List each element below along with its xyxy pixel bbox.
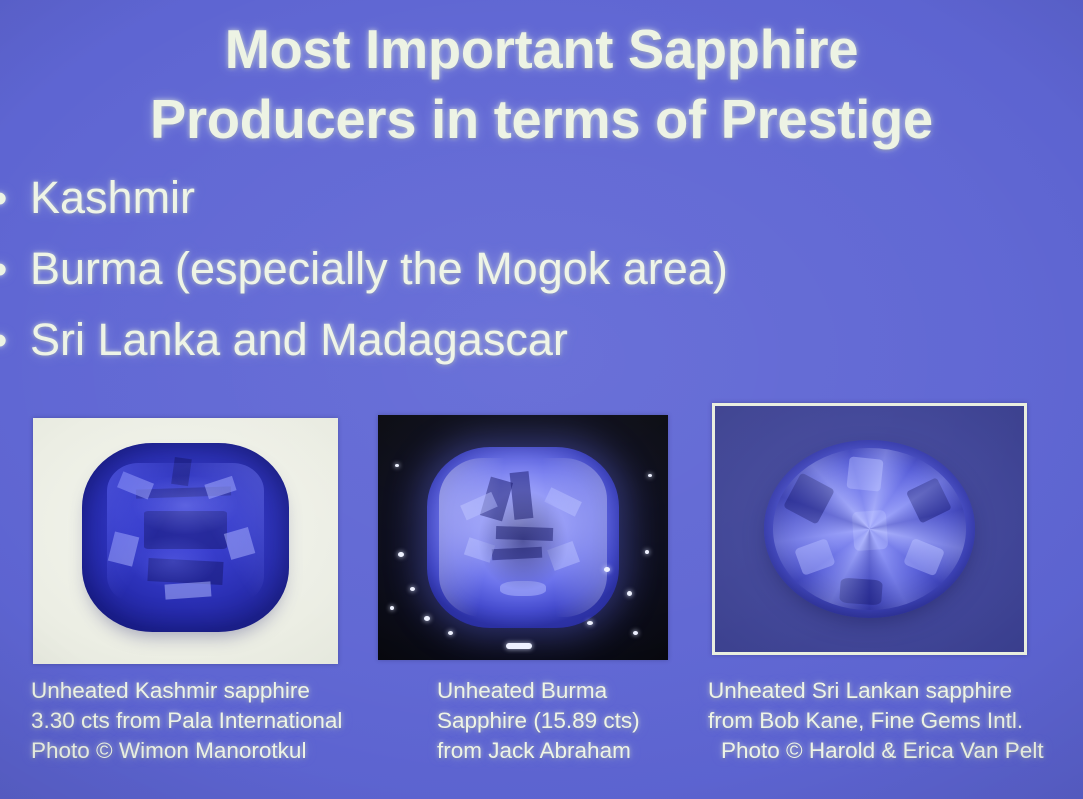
bullet-item-kashmir: • Kashmir xyxy=(0,172,1040,243)
slide-title: Most Important Sapphire Producers in ter… xyxy=(0,14,1083,154)
caption-line: Unheated Burma xyxy=(437,676,640,706)
bullet-item-burma: • Burma (especially the Mogok area) xyxy=(0,243,1040,314)
bullet-point-icon: • xyxy=(0,248,14,292)
bullet-label: Sri Lanka and Madagascar xyxy=(30,314,568,366)
caption-line: from Jack Abraham xyxy=(437,736,640,766)
sparkle-highlight xyxy=(633,631,638,635)
bullet-label: Kashmir xyxy=(30,172,195,224)
sparkle-reflection xyxy=(506,643,532,649)
title-line-1: Most Important Sapphire xyxy=(8,14,1075,84)
caption-line: Photo © Harold & Erica Van Pelt xyxy=(708,736,1044,766)
cushion-cut-gem xyxy=(427,447,618,628)
sparkle-highlight xyxy=(390,606,394,610)
sparkle-highlight xyxy=(448,631,453,635)
burma-sapphire-photo xyxy=(378,415,668,660)
sparkle-highlight xyxy=(648,474,652,477)
title-line-2: Producers in terms of Prestige xyxy=(8,84,1075,154)
presentation-slide: Most Important Sapphire Producers in ter… xyxy=(0,0,1083,799)
sparkle-highlight xyxy=(398,552,404,557)
cushion-cut-gem xyxy=(82,443,289,632)
caption-line: Photo © Wimon Manorotkul xyxy=(31,736,342,766)
sparkle-highlight xyxy=(395,464,399,467)
caption-line: Unheated Sri Lankan sapphire xyxy=(708,676,1044,706)
bullet-point-icon: • xyxy=(0,319,14,363)
gem-image-kashmir xyxy=(33,418,338,664)
bullet-item-sri-lanka: • Sri Lanka and Madagascar xyxy=(0,314,1040,385)
caption-sri-lankan-sapphire: Unheated Sri Lankan sapphire from Bob Ka… xyxy=(708,676,1044,766)
bullet-point-icon: • xyxy=(0,177,14,221)
bullet-label: Burma (especially the Mogok area) xyxy=(30,243,728,295)
gem-image-sri-lanka xyxy=(715,406,1024,652)
caption-kashmir-sapphire: Unheated Kashmir sapphire 3.30 cts from … xyxy=(31,676,342,766)
sparkle-highlight xyxy=(627,591,632,596)
gem-image-burma xyxy=(378,415,668,660)
sparkle-highlight xyxy=(410,587,415,591)
sparkle-highlight xyxy=(645,550,649,554)
caption-line: Sapphire (15.89 cts) xyxy=(437,706,640,736)
sparkle-highlight xyxy=(424,616,430,621)
caption-line: from Bob Kane, Fine Gems Intl. xyxy=(708,706,1044,736)
oval-cut-gem xyxy=(764,440,974,617)
kashmir-sapphire-photo xyxy=(33,418,338,664)
sri-lankan-sapphire-photo xyxy=(712,403,1027,655)
caption-burma-sapphire: Unheated Burma Sapphire (15.89 cts) from… xyxy=(437,676,640,766)
sparkle-highlight xyxy=(587,621,593,625)
caption-line: Unheated Kashmir sapphire xyxy=(31,676,342,706)
caption-line: 3.30 cts from Pala International xyxy=(31,706,342,736)
bullet-list: • Kashmir • Burma (especially the Mogok … xyxy=(0,172,1040,385)
